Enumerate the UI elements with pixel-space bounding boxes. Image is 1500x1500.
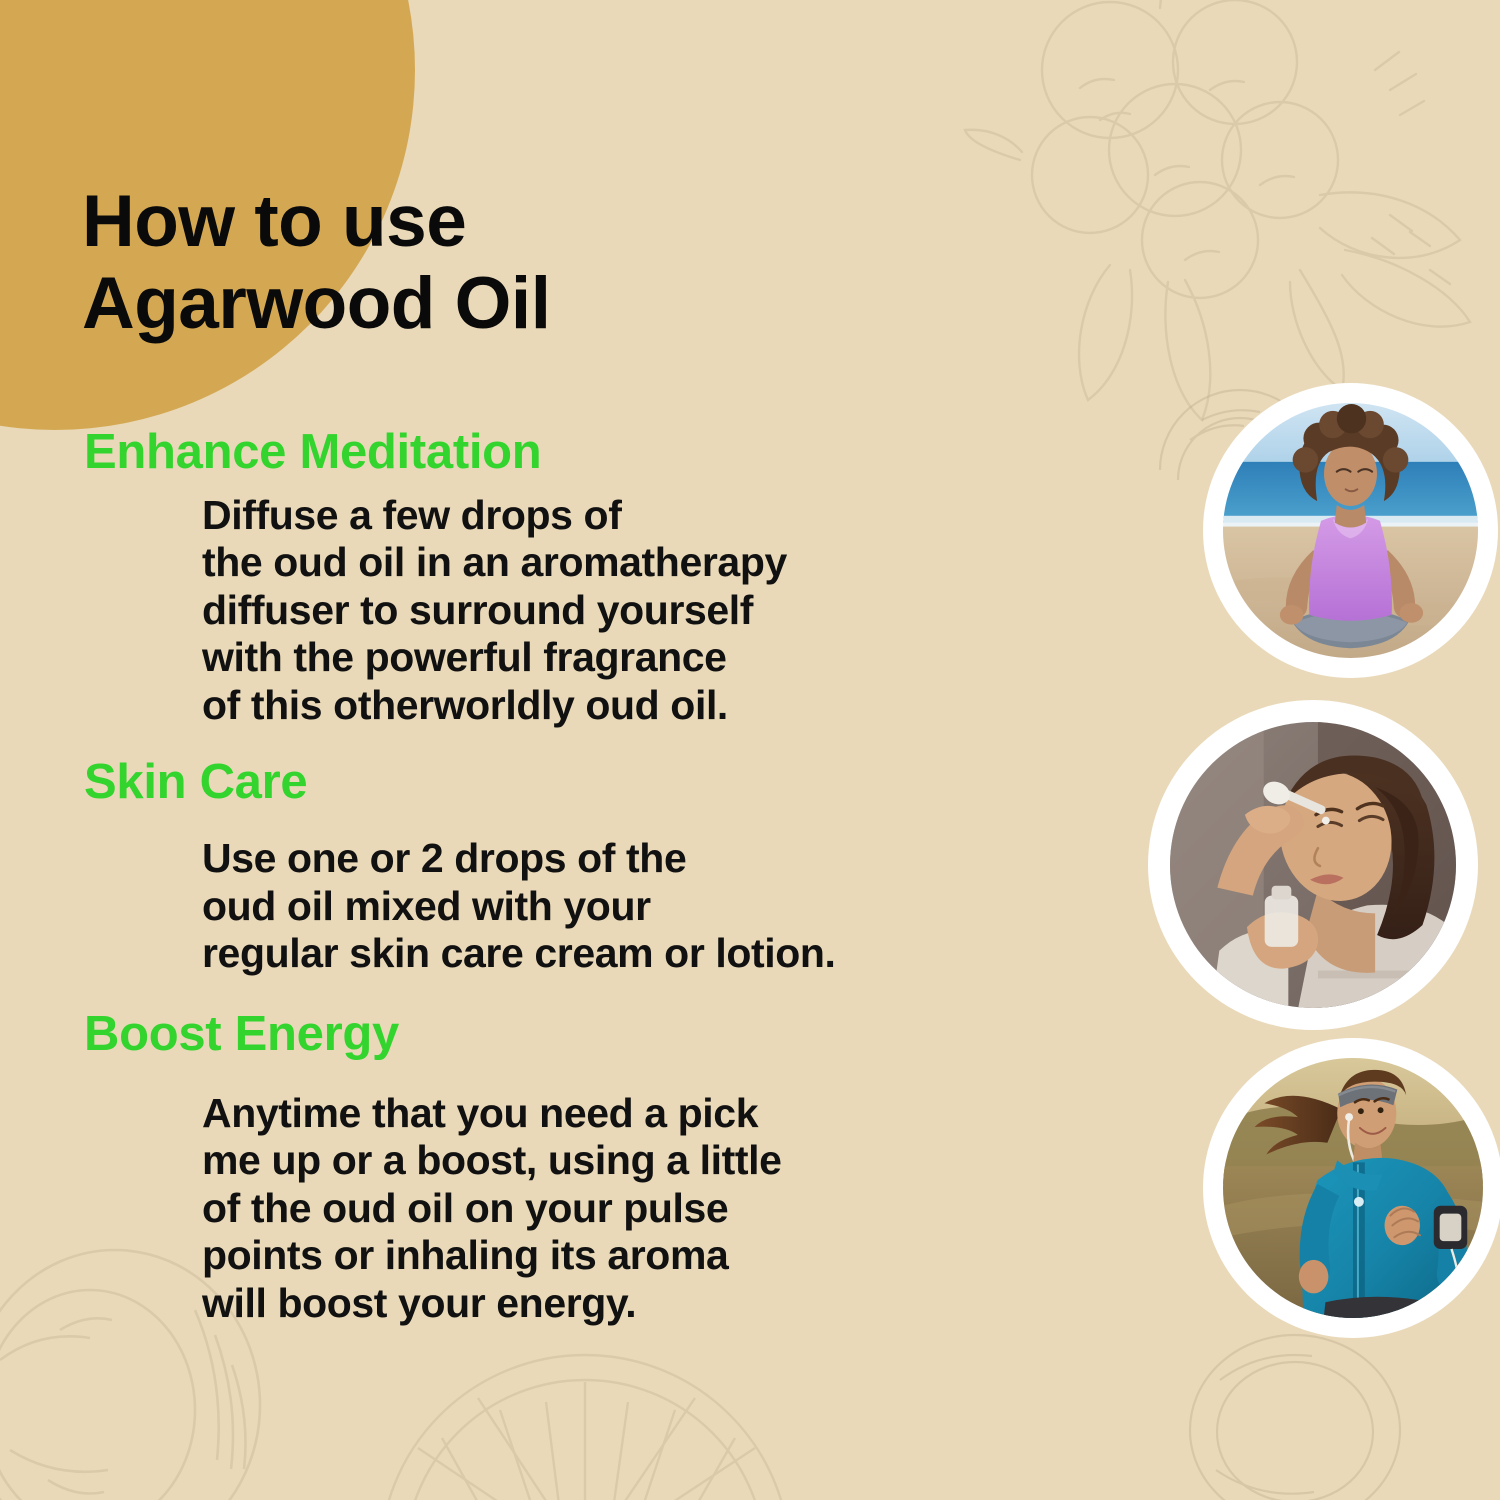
skincare-photo-inner [1170, 722, 1456, 1008]
infographic-canvas: How to use Agarwood Oil Enhance Meditati… [0, 0, 1500, 1500]
meditation-photo-inner [1223, 403, 1478, 658]
berry-branch-watermark [960, 0, 1500, 440]
section-body-boost-energy: Anytime that you need a pick me up or a … [202, 1090, 1064, 1328]
citrus-slice-watermark [370, 1330, 790, 1500]
section-body-enhance-meditation: Diffuse a few drops of the oud oil in an… [202, 492, 1064, 730]
section-heading-skin-care: Skin Care [84, 754, 1064, 812]
section-heading-enhance-meditation: Enhance Meditation [84, 424, 1064, 482]
skincare-illustration [1170, 722, 1456, 1008]
energy-illustration [1223, 1058, 1483, 1318]
skincare-photo [1148, 700, 1478, 1030]
energy-photo [1203, 1038, 1500, 1338]
meditation-photo [1203, 383, 1498, 678]
energy-photo-inner [1223, 1058, 1483, 1318]
page-title: How to use Agarwood Oil [82, 181, 862, 345]
section-heading-boost-energy: Boost Energy [84, 1006, 1064, 1064]
content-sections: Enhance Meditation Diffuse a few drops o… [84, 424, 1064, 1354]
section-boost-energy: Boost Energy Anytime that you need a pic… [84, 1006, 1064, 1328]
section-skin-care: Skin Care Use one or 2 drops of the oud … [84, 754, 1064, 978]
section-body-skin-care: Use one or 2 drops of the oud oil mixed … [202, 835, 1064, 978]
section-enhance-meditation: Enhance Meditation Diffuse a few drops o… [84, 424, 1064, 730]
meditation-illustration [1223, 403, 1478, 658]
